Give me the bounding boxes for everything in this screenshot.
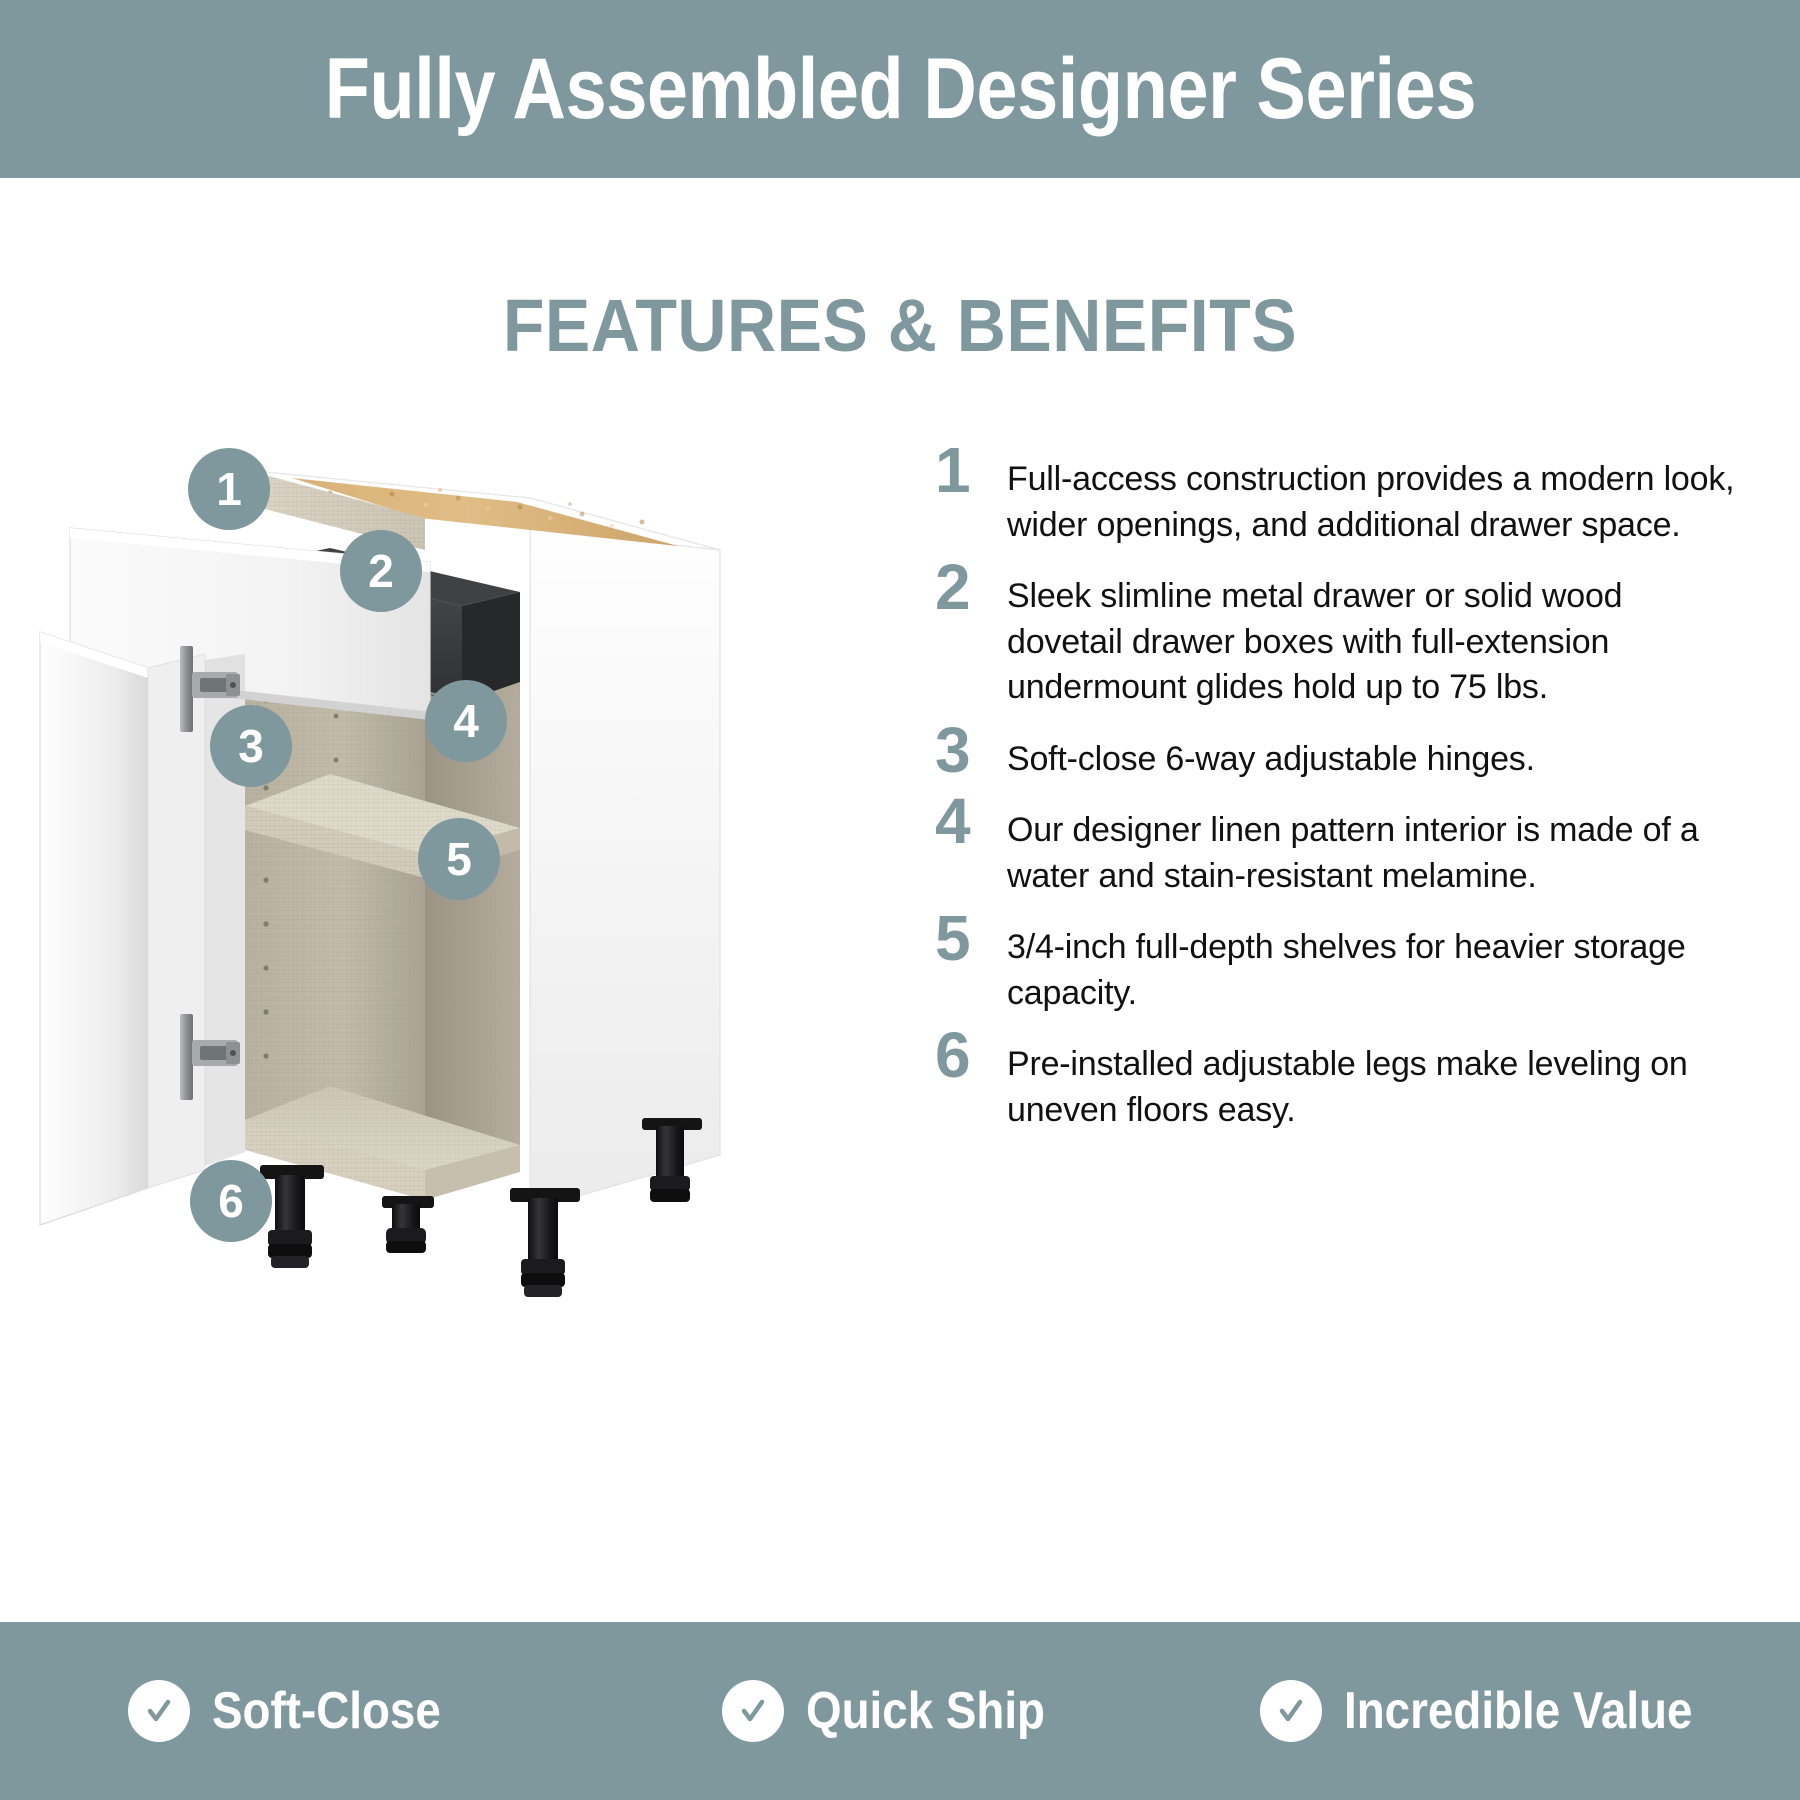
page-title: Fully Assembled Designer Series	[324, 40, 1475, 139]
feature-text-2: Sleek slimline metal drawer or solid woo…	[1007, 562, 1735, 711]
footer-badge-soft-close: Soft-Close	[0, 1680, 600, 1742]
callout-badge-4: 4	[425, 680, 507, 762]
feature-item-3: 3 Soft-close 6-way adjustable hinges.	[935, 725, 1735, 783]
check-icon	[722, 1680, 784, 1742]
feature-number-4: 4	[935, 792, 1007, 851]
callout-badge-1: 1	[188, 448, 270, 530]
feature-text-5: 3/4-inch full-depth shelves for heavier …	[1007, 913, 1735, 1016]
callout-badge-3: 3	[210, 705, 292, 787]
feature-item-1: 1 Full-access construction provides a mo…	[935, 445, 1735, 548]
feature-number-5: 5	[935, 909, 1007, 968]
main-content: 1 2 3 4 5 6 1 Full-access construction p…	[0, 400, 1800, 1600]
product-illustration	[30, 410, 820, 1470]
callout-badge-5: 5	[418, 818, 500, 900]
feature-number-1: 1	[935, 441, 1007, 500]
header-bar: Fully Assembled Designer Series	[0, 0, 1800, 178]
footer-bar: Soft-Close Quick Ship Incredible Value	[0, 1622, 1800, 1800]
footer-label-incredible-value: Incredible Value	[1344, 1681, 1692, 1741]
feature-number-2: 2	[935, 558, 1007, 617]
callout-badge-2: 2	[340, 530, 422, 612]
footer-label-soft-close: Soft-Close	[212, 1681, 441, 1741]
feature-text-1: Full-access construction provides a mode…	[1007, 445, 1735, 548]
footer-badge-incredible-value: Incredible Value	[1200, 1680, 1800, 1742]
feature-text-3: Soft-close 6-way adjustable hinges.	[1007, 725, 1735, 783]
feature-number-6: 6	[935, 1026, 1007, 1085]
feature-item-4: 4 Our designer linen pattern interior is…	[935, 796, 1735, 899]
check-icon	[128, 1680, 190, 1742]
feature-number-3: 3	[935, 721, 1007, 780]
features-list: 1 Full-access construction provides a mo…	[935, 445, 1735, 1148]
feature-item-5: 5 3/4-inch full-depth shelves for heavie…	[935, 913, 1735, 1016]
feature-text-4: Our designer linen pattern interior is m…	[1007, 796, 1735, 899]
check-icon	[1260, 1680, 1322, 1742]
feature-item-2: 2 Sleek slimline metal drawer or solid w…	[935, 562, 1735, 711]
section-heading: FEATURES & BENEFITS	[72, 283, 1728, 368]
feature-item-6: 6 Pre-installed adjustable legs make lev…	[935, 1030, 1735, 1133]
feature-text-6: Pre-installed adjustable legs make level…	[1007, 1030, 1735, 1133]
callout-badge-6: 6	[190, 1160, 272, 1242]
footer-badge-quick-ship: Quick Ship	[600, 1680, 1200, 1742]
footer-label-quick-ship: Quick Ship	[806, 1681, 1045, 1741]
